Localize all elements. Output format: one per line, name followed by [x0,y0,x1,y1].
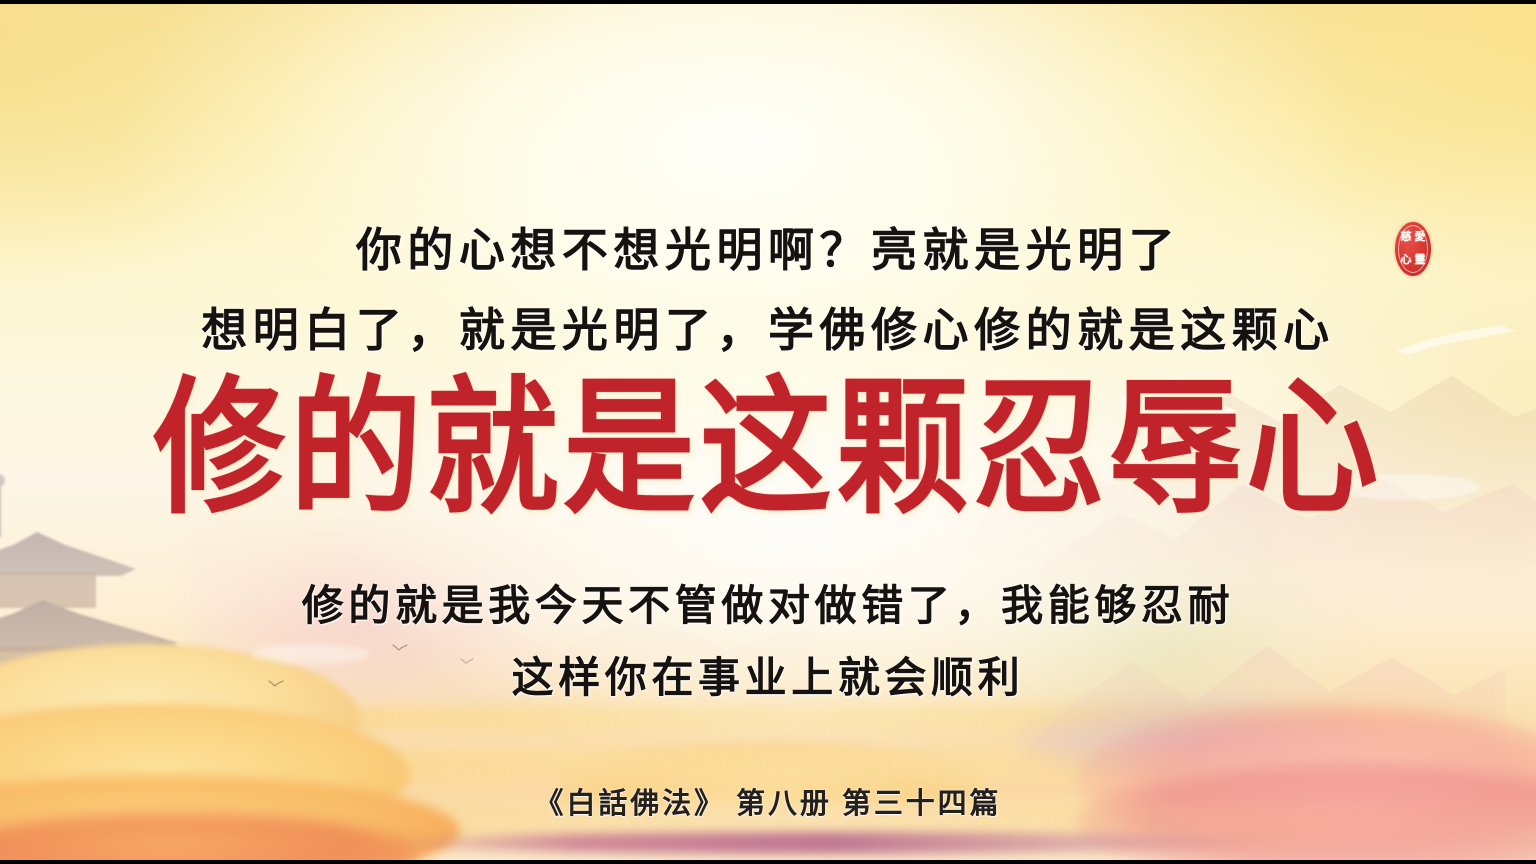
letterbox-band-bottom [0,860,1536,864]
source-attribution: 《白話佛法》 第八册 第三十四篇 [0,780,1536,822]
poster-canvas: 你的心想不想光明啊？亮就是光明了 想明白了，就是光明了，学佛修心修的就是这颗心 … [0,0,1536,864]
lead-line-2: 想明白了，就是光明了，学佛修心修的就是这颗心 [0,294,1536,360]
letterbox-band-top [0,0,1536,4]
headline-title: 修的就是这颗忍辱心 [0,376,1536,524]
seal-stamp-icon: 慈 愛 心 靈 [1395,222,1431,276]
body-line-2: 这样你在事业上就会顺利 [0,644,1536,705]
seal-character-2: 愛 [1415,232,1426,243]
seal-character-1: 慈 [1401,232,1412,243]
seal-inner-frame: 慈 愛 心 靈 [1398,225,1428,273]
seal-character-4: 靈 [1415,255,1426,266]
lead-line-1: 你的心想不想光明啊？亮就是光明了 [0,214,1536,280]
seal-character-3: 心 [1401,255,1412,266]
text-content-layer: 你的心想不想光明啊？亮就是光明了 想明白了，就是光明了，学佛修心修的就是这颗心 … [0,0,1536,864]
body-line-1: 修的就是我今天不管做对做错了，我能够忍耐 [0,572,1536,633]
